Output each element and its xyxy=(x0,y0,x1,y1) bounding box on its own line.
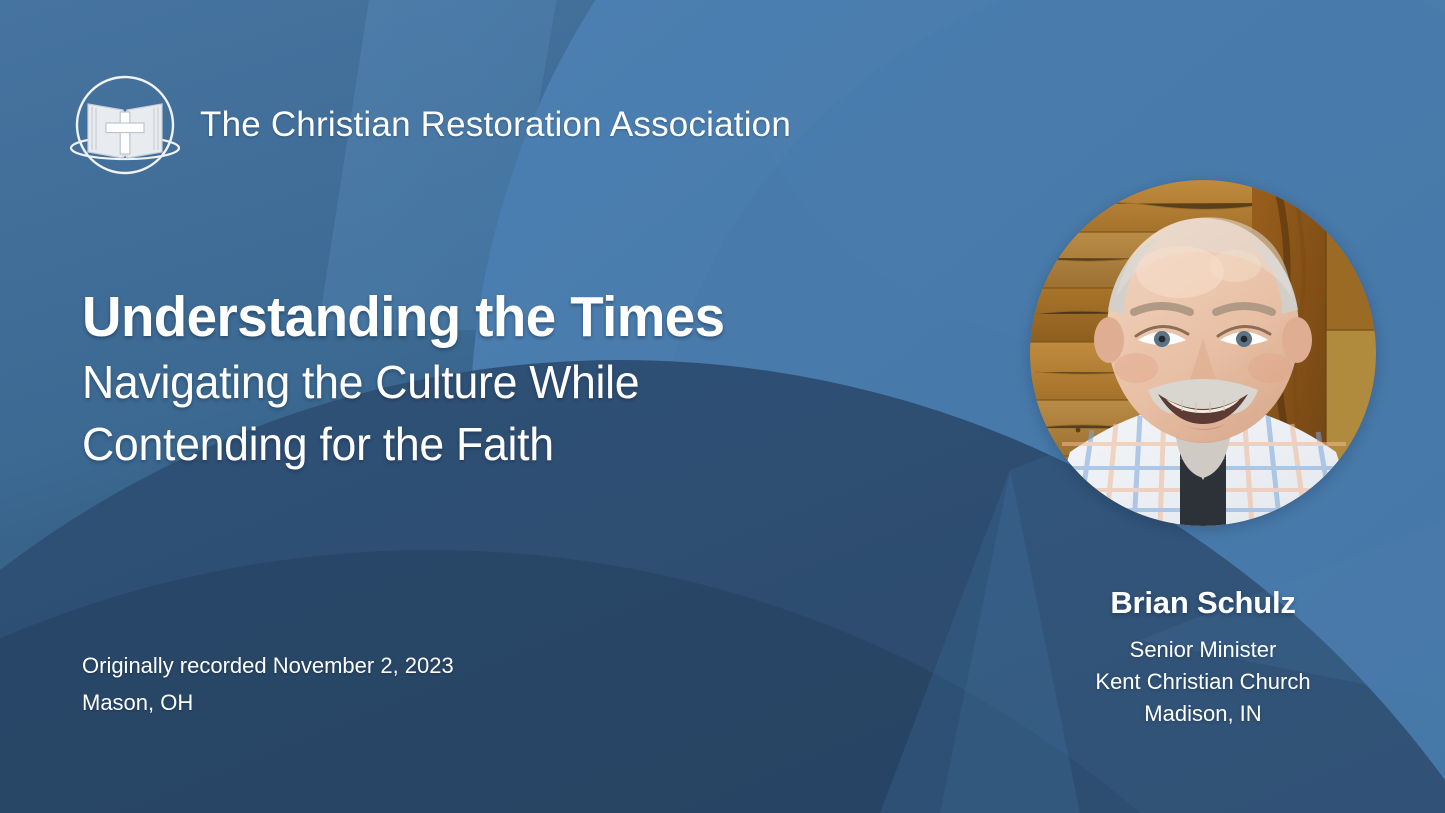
brand-lockup: The Christian Restoration Association xyxy=(68,68,791,182)
recording-date: Originally recorded November 2, 2023 xyxy=(82,648,454,685)
recording-location: Mason, OH xyxy=(82,685,454,722)
title-slide: The Christian Restoration Association Un… xyxy=(0,0,1445,813)
speaker-role: Senior Minister xyxy=(1030,634,1376,666)
avatar xyxy=(1030,180,1376,526)
page-subtitle-line-2: Contending for the Faith xyxy=(82,413,731,476)
page-subtitle-line-1: Navigating the Culture While xyxy=(82,351,731,414)
speaker-name: Brian Schulz xyxy=(1030,585,1376,621)
speaker-location: Madison, IN xyxy=(1030,698,1376,730)
speaker-headshot-image xyxy=(1030,180,1376,526)
speaker-block: Brian Schulz Senior Minister Kent Christ… xyxy=(1030,180,1376,730)
title-block: Understanding the Times Navigating the C… xyxy=(82,288,751,476)
brand-name: The Christian Restoration Association xyxy=(200,105,791,145)
page-subtitle: Navigating the Culture While Contending … xyxy=(82,351,731,476)
recording-meta: Originally recorded November 2, 2023 Mas… xyxy=(82,648,454,722)
page-title: Understanding the Times xyxy=(82,288,724,347)
open-book-with-cross-emblem-icon xyxy=(68,68,182,182)
speaker-details: Senior Minister Kent Christian Church Ma… xyxy=(1030,634,1376,730)
speaker-organization: Kent Christian Church xyxy=(1030,666,1376,698)
